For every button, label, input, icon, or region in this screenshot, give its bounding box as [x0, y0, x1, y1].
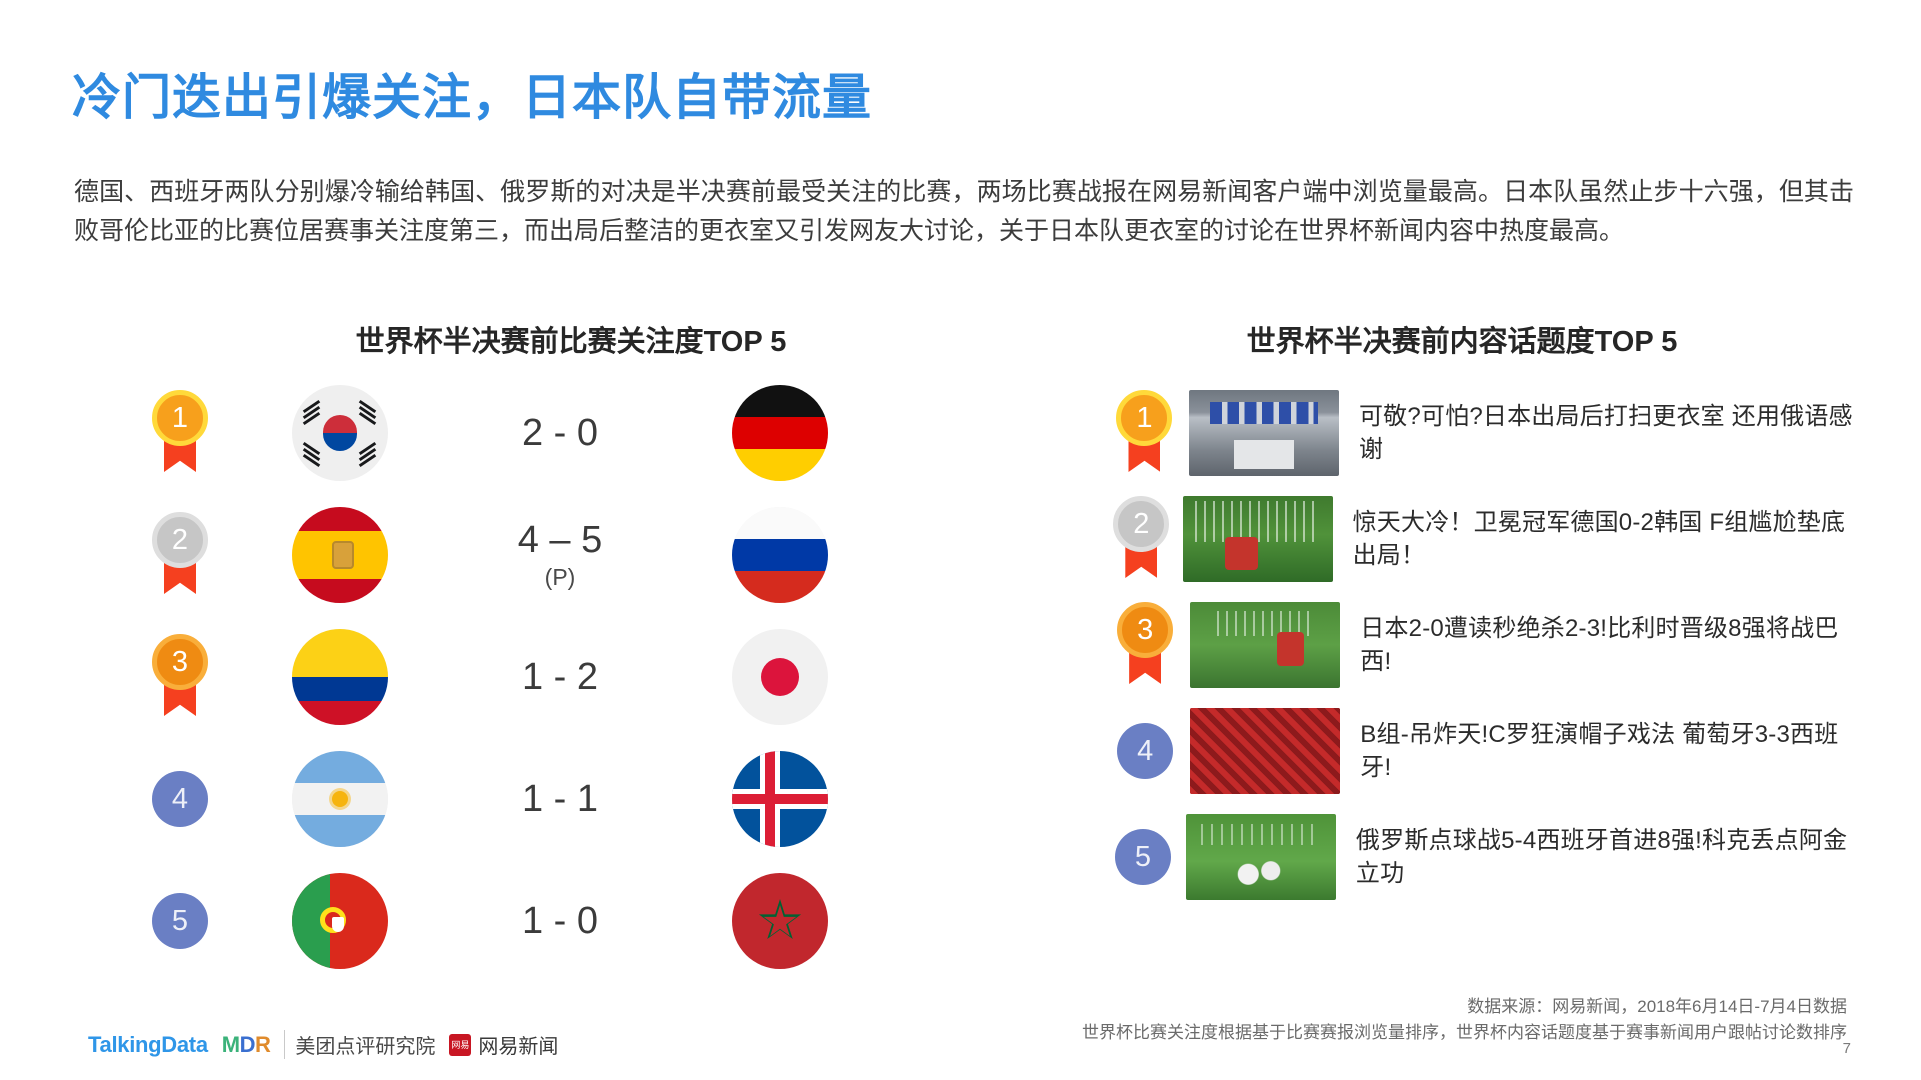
news-medal-icon: 2 [1113, 496, 1169, 582]
flag-ru-icon [732, 507, 828, 603]
match-medal-icon: 3 [152, 634, 208, 720]
talkingdata-logo: TalkingData [88, 1032, 208, 1058]
mdr-letter-m: M [222, 1032, 240, 1057]
match-score: 4 – 5(P) [440, 519, 680, 591]
news-row[interactable]: 3日本2-0遭读秒绝杀2-3!比利时晋级8强将战巴西! [1100, 592, 1860, 698]
match-score: 1 - 2 [440, 656, 680, 698]
medal-rank-number: 2 [152, 512, 208, 568]
match-rank-cell: 1 [120, 390, 240, 476]
news-ranking-list: 1可敬?可怕?日本出局后打扫更衣室 还用俄语感谢2惊天大冷！卫冕冠军德国0-2韩… [1100, 380, 1860, 910]
news-rank-cell: 4 [1100, 723, 1190, 779]
match-row[interactable]: 24 – 5(P) [120, 494, 940, 616]
match-away-flag-cell [680, 507, 880, 603]
news-title[interactable]: 可敬?可怕?日本出局后打扫更衣室 还用俄语感谢 [1359, 400, 1860, 466]
medal-rank-number: 3 [152, 634, 208, 690]
spain-crest-icon [332, 541, 354, 569]
flag-co-icon [292, 629, 388, 725]
match-rank-cell: 5 [120, 893, 240, 949]
match-medal-icon: 1 [152, 390, 208, 476]
news-row[interactable]: 5俄罗斯点球战5-4西班牙首进8强!科克丢点阿金立功 [1100, 804, 1860, 910]
match-rank-cell: 4 [120, 771, 240, 827]
japan-sun-icon [761, 658, 799, 696]
news-rank-cell: 3 [1100, 602, 1190, 688]
news-thumbnail-image [1189, 390, 1339, 476]
news-rank-badge: 4 [1117, 723, 1173, 779]
match-home-flag-cell [240, 629, 440, 725]
source-line-1: 数据来源：网易新闻，2018年6月14日-7月4日数据 [1082, 994, 1847, 1020]
slide-root: 冷门迭出引爆关注，日本队自带流量 德国、西班牙两队分别爆冷输给韩国、俄罗斯的对决… [0, 0, 1921, 1080]
medal-rank-number: 2 [1113, 496, 1169, 552]
match-score-note: (P) [440, 563, 680, 591]
section-heading-news: 世界杯半决赛前内容话题度TOP 5 [1162, 318, 1762, 360]
news-thumbnail-image [1186, 814, 1336, 900]
source-line-2: 世界杯比赛关注度根据基于比赛赛报浏览量排序，世界杯内容话题度基于赛事新闻用户跟帖… [1082, 1020, 1847, 1046]
argentina-sun-icon [332, 791, 348, 807]
match-rank-badge: 5 [152, 893, 208, 949]
section-heading-matches: 世界杯半决赛前比赛关注度TOP 5 [286, 318, 856, 360]
portugal-shield-icon [320, 907, 346, 933]
medal-rank-number: 1 [152, 390, 208, 446]
flag-ma-icon [732, 873, 828, 969]
match-row[interactable]: 31 - 2 [120, 616, 940, 738]
footer-logos: TalkingData MDR 美团点评研究院 网易 网易新闻 [88, 1030, 558, 1059]
page-lede: 德国、西班牙两队分别爆冷输给韩国、俄罗斯的对决是半决赛前最受关注的比赛，两场比赛… [74, 173, 1854, 251]
match-row[interactable]: 41 - 1 [120, 738, 940, 860]
match-home-flag-cell [240, 507, 440, 603]
news-row[interactable]: 4B组-吊炸天!C罗狂演帽子戏法 葡萄牙3-3西班牙! [1100, 698, 1860, 804]
match-away-flag-cell [680, 751, 880, 847]
flag-de-icon [732, 385, 828, 481]
flag-jp-icon [732, 629, 828, 725]
mdr-logo: MDR [222, 1032, 271, 1058]
page-title: 冷门迭出引爆关注，日本队自带流量 [72, 58, 872, 129]
news-title[interactable]: 俄罗斯点球战5-4西班牙首进8强!科克丢点阿金立功 [1356, 824, 1860, 890]
match-away-flag-cell [680, 629, 880, 725]
flag-es-icon [292, 507, 388, 603]
news-thumbnail-image [1190, 708, 1340, 794]
match-ranking-list: 12 - 024 – 5(P)31 - 241 - 151 - 0 [120, 372, 940, 982]
meituan-research-label: 美团点评研究院 [284, 1030, 435, 1059]
match-row[interactable]: 12 - 0 [120, 372, 940, 494]
netease-badge-icon: 网易 [449, 1034, 471, 1056]
flag-ar-icon [292, 751, 388, 847]
news-thumbnail-image [1190, 602, 1340, 688]
match-away-flag-cell [680, 873, 880, 969]
news-rank-cell: 2 [1100, 496, 1183, 582]
match-row[interactable]: 51 - 0 [120, 860, 940, 982]
netease-logo: 网易 网易新闻 [449, 1030, 558, 1059]
news-thumbnail-image [1183, 496, 1333, 582]
news-row[interactable]: 2惊天大冷！卫冕冠军德国0-2韩国 F组尴尬垫底出局！ [1100, 486, 1860, 592]
match-score: 2 - 0 [440, 412, 680, 454]
match-away-flag-cell [680, 385, 880, 481]
news-rank-cell: 5 [1100, 829, 1186, 885]
netease-news-label: 网易新闻 [478, 1030, 558, 1059]
news-rank-cell: 1 [1100, 390, 1189, 476]
flag-kr-icon [292, 385, 388, 481]
news-title[interactable]: 惊天大冷！卫冕冠军德国0-2韩国 F组尴尬垫底出局！ [1353, 506, 1860, 572]
match-rank-badge: 4 [152, 771, 208, 827]
news-rank-badge: 5 [1115, 829, 1171, 885]
news-title[interactable]: B组-吊炸天!C罗狂演帽子戏法 葡萄牙3-3西班牙! [1360, 718, 1860, 784]
match-rank-cell: 2 [120, 512, 240, 598]
match-score: 1 - 1 [440, 778, 680, 820]
match-home-flag-cell [240, 751, 440, 847]
mdr-letter-d: D [240, 1032, 255, 1057]
match-rank-cell: 3 [120, 634, 240, 720]
news-medal-icon: 3 [1117, 602, 1173, 688]
flag-pt-icon [292, 873, 388, 969]
data-source-note: 数据来源：网易新闻，2018年6月14日-7月4日数据 世界杯比赛关注度根据基于… [1082, 994, 1847, 1046]
news-medal-icon: 1 [1116, 390, 1172, 476]
mdr-letter-r: R [255, 1032, 270, 1057]
page-number: 7 [1843, 1040, 1851, 1057]
news-row[interactable]: 1可敬?可怕?日本出局后打扫更衣室 还用俄语感谢 [1100, 380, 1860, 486]
match-score: 1 - 0 [440, 900, 680, 942]
medal-rank-number: 1 [1116, 390, 1172, 446]
match-medal-icon: 2 [152, 512, 208, 598]
match-home-flag-cell [240, 385, 440, 481]
flag-is-icon [732, 751, 828, 847]
match-home-flag-cell [240, 873, 440, 969]
medal-rank-number: 3 [1117, 602, 1173, 658]
news-title[interactable]: 日本2-0遭读秒绝杀2-3!比利时晋级8强将战巴西! [1360, 612, 1860, 678]
